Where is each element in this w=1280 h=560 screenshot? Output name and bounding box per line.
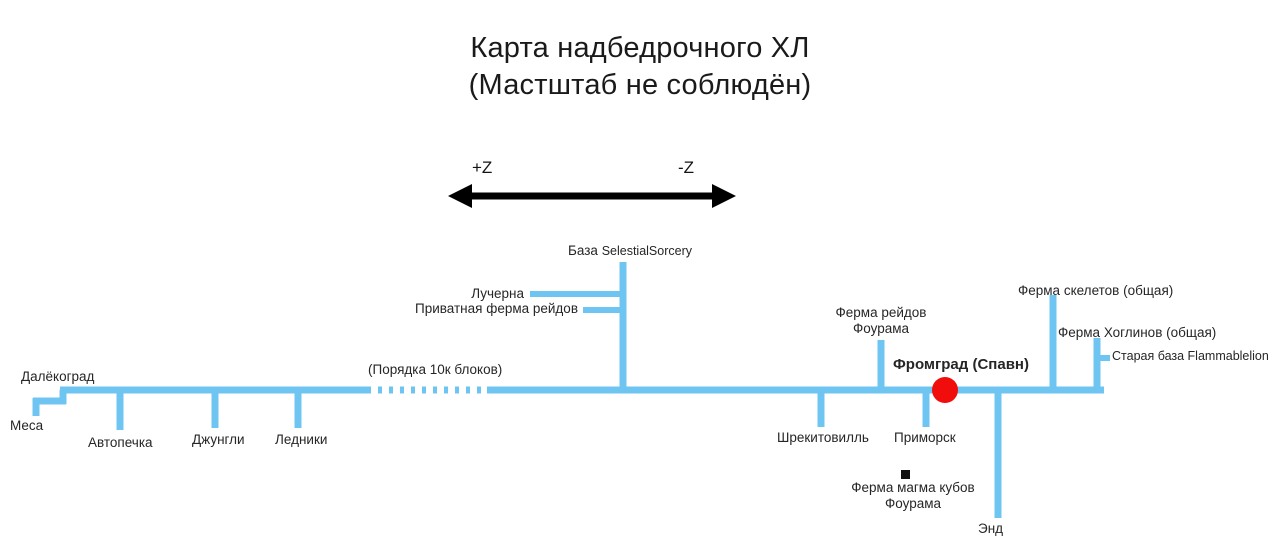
spawn-marker-dot xyxy=(932,377,958,403)
node-label-end: Энд xyxy=(978,521,1003,537)
node-label-magma-line-2: Фоурама xyxy=(838,496,988,512)
node-label-baza-selestialsorcery: База SelestialSorcery xyxy=(568,243,692,259)
branch-ferma-hoglinov xyxy=(1097,338,1110,390)
node-label-ferma-skeletov: Ферма скелетов (общая) xyxy=(1018,283,1173,299)
node-label-mesa: Меса xyxy=(10,418,43,434)
magma-cube-farm-marker-icon xyxy=(901,470,910,479)
node-label-ferma-hoglinov: Ферма Хоглинов (общая) xyxy=(1058,325,1216,341)
note-distance-blocks: (Порядка 10к блоков) xyxy=(368,362,502,378)
node-label-avtopechka: Автопечка xyxy=(88,435,153,451)
map-title-line-1: Карта надбедрочного ХЛ xyxy=(0,30,1280,67)
node-label-fromgrad-spawn: Фромград (Спавн) xyxy=(893,356,1029,374)
node-label-dalekograd: Далёкоград xyxy=(21,369,94,385)
node-label-ledniki: Ледники xyxy=(275,432,327,448)
node-label-shrekitovill: Шрекитовилль xyxy=(777,430,869,446)
node-label-ferma-reydov-line-2: Фоурама xyxy=(806,321,956,337)
axis-label-negative-z: -Z xyxy=(678,158,694,178)
map-title-line-2: (Мастштаб не соблюдён) xyxy=(0,67,1280,104)
map-title: Карта надбедрочного ХЛ (Мастштаб не собл… xyxy=(0,30,1280,104)
node-label-ferma-magma-kubov-fourama: Ферма магма кубов Фоурама xyxy=(838,480,988,512)
node-label-baza-prefix: База xyxy=(568,243,598,258)
node-label-lucherna: Лучерна xyxy=(396,286,524,302)
node-label-magma-line-1: Ферма магма кубов xyxy=(838,480,988,496)
node-label-ferma-reydov-line-1: Ферма рейдов xyxy=(806,305,956,321)
node-label-ferma-reydov-fourama: Ферма рейдов Фоурама xyxy=(806,305,956,337)
node-label-privatnaya-ferma-reydov: Приватная ферма рейдов xyxy=(362,301,578,317)
node-label-baza-name: SelestialSorcery xyxy=(602,244,692,258)
node-label-dzhungli: Джунгли xyxy=(192,432,245,448)
branch-baza-selestialsorcery xyxy=(530,262,626,390)
branch-mesa xyxy=(33,390,66,416)
z-axis-arrow xyxy=(448,184,736,208)
axis-label-positive-z: +Z xyxy=(472,158,492,178)
node-label-staraya-baza-flammablelion: Старая база Flammablelion xyxy=(1112,349,1269,364)
node-label-primorsk: Приморск xyxy=(894,430,956,446)
